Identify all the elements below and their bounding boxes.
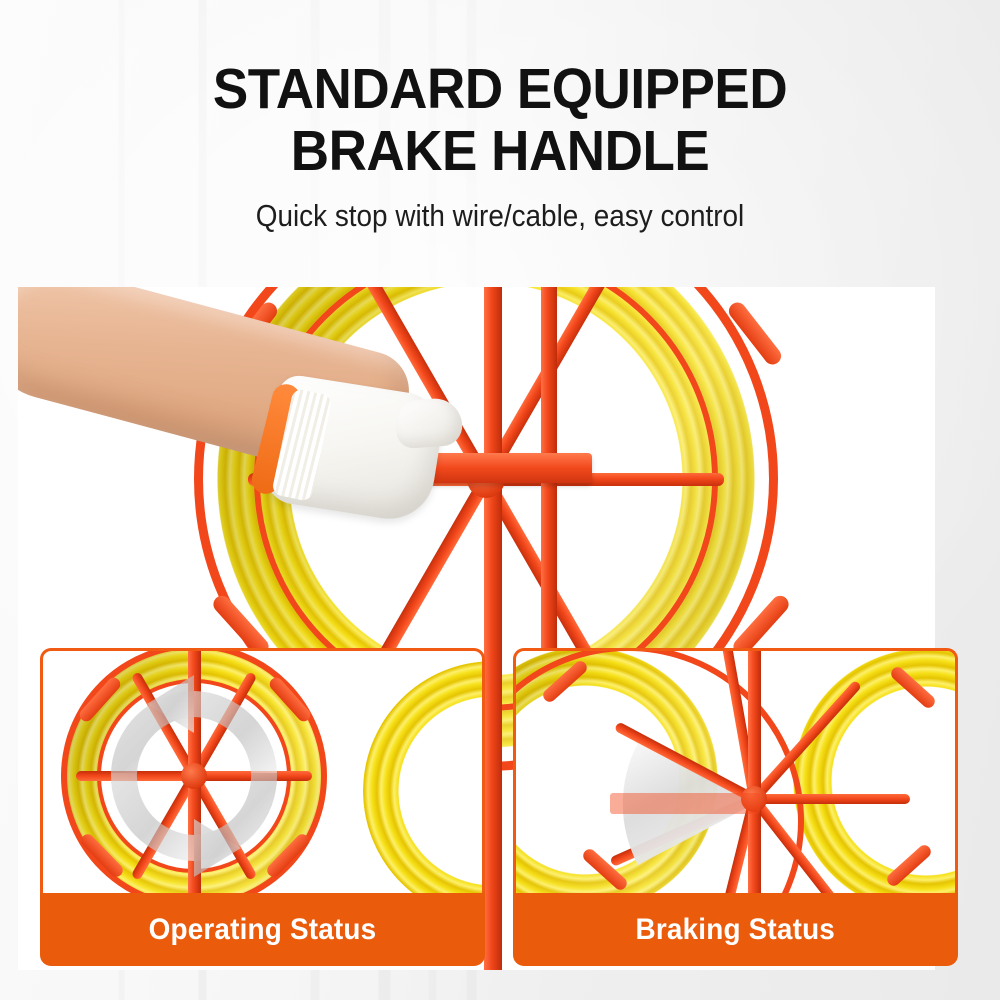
- inset-braking-caption-bar: Braking Status: [513, 893, 958, 966]
- inset-braking-caption: Braking Status: [636, 913, 835, 947]
- stand-post: [541, 287, 557, 697]
- brake-bar-icon: [604, 709, 794, 895]
- stand-post: [484, 287, 502, 970]
- page-subtitle: Quick stop with wire/cable, easy control: [50, 182, 950, 233]
- inset-braking-status: Braking Status: [513, 648, 958, 966]
- operating-reel-illustration: [43, 651, 482, 895]
- rotation-arrows-icon: [91, 673, 297, 879]
- inset-operating-caption-bar: Operating Status: [40, 893, 485, 966]
- inset-operating-status: Operating Status: [40, 648, 485, 966]
- braking-reel-illustration: [516, 651, 955, 895]
- inset-braking-frame: [513, 648, 958, 895]
- cable-coil-secondary: [363, 661, 485, 895]
- product-feature-banner: STANDARD EQUIPPED BRAKE HANDLE Quick sto…: [0, 0, 1000, 1000]
- headline-line-2: BRAKE HANDLE: [35, 120, 965, 182]
- headline-line-1: STANDARD EQUIPPED: [213, 57, 787, 121]
- page-title: STANDARD EQUIPPED BRAKE HANDLE: [35, 0, 965, 182]
- inset-operating-caption: Operating Status: [149, 913, 377, 947]
- header-block: STANDARD EQUIPPED BRAKE HANDLE Quick sto…: [0, 0, 1000, 233]
- inset-operating-frame: [40, 648, 485, 895]
